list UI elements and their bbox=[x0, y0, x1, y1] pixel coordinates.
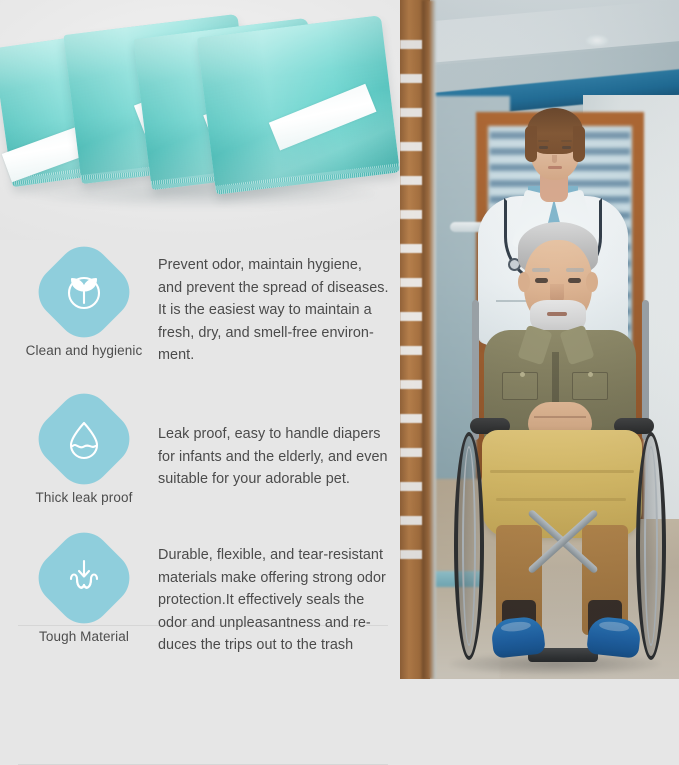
man-mouth bbox=[547, 312, 567, 316]
man-eye bbox=[535, 278, 548, 283]
blanket-fold bbox=[496, 498, 626, 501]
wheelchair-hand-rim bbox=[644, 446, 658, 646]
lap-blanket bbox=[482, 430, 642, 538]
down-arrow-elastic-wave-icon bbox=[27, 521, 140, 634]
man-eyebrow bbox=[566, 268, 584, 272]
feature-text-column: Leak proof, easy to handle diapers for i… bbox=[154, 385, 390, 491]
wheelchair-shadow bbox=[450, 653, 660, 675]
nurse-eye bbox=[539, 146, 548, 149]
feature-description: Durable, flexible, and tear-resistant ma… bbox=[158, 544, 390, 657]
man-eyebrow bbox=[532, 268, 550, 272]
man-ear bbox=[518, 272, 530, 292]
nurse-eyebrow bbox=[538, 140, 549, 142]
wheelchair-hand-rim bbox=[462, 446, 476, 646]
man-eye bbox=[568, 278, 581, 283]
leaf-sprout-circle-icon bbox=[27, 235, 140, 348]
man-shirt-button bbox=[520, 372, 525, 377]
feature-text-column: Durable, flexible, and tear-resistant ma… bbox=[154, 524, 390, 657]
wooden-door-frame-inner bbox=[422, 0, 436, 679]
water-droplet-icon bbox=[27, 382, 140, 495]
feature-item-clean-and-hygienic: Clean and hygienic Prevent odor, maintai… bbox=[0, 240, 400, 385]
nurse-eye bbox=[562, 146, 571, 149]
product-infographic: Clean and hygienic Prevent odor, maintai… bbox=[0, 0, 679, 679]
feature-item-tough-material: Tough Material Durable, flexible, and te… bbox=[0, 524, 400, 674]
feature-icon-column: Clean and hygienic bbox=[14, 240, 154, 358]
feature-list: Clean and hygienic Prevent odor, maintai… bbox=[0, 240, 400, 674]
feature-icon-column: Tough Material bbox=[14, 524, 154, 644]
left-info-panel: Clean and hygienic Prevent odor, maintai… bbox=[0, 0, 400, 679]
nurse-hair bbox=[525, 126, 537, 162]
feature-item-thick-leak-proof: Thick leak proof Leak proof, easy to han… bbox=[0, 385, 400, 524]
nurse-nose bbox=[552, 155, 557, 163]
nurse-hair bbox=[573, 126, 585, 162]
feature-caption: Clean and hygienic bbox=[26, 343, 143, 358]
product-bag bbox=[197, 15, 400, 194]
nurse-mouth bbox=[548, 166, 562, 169]
feature-description: Leak proof, easy to handle diapers for i… bbox=[158, 423, 390, 491]
nurse-eyebrow bbox=[561, 140, 572, 142]
feature-caption: Thick leak proof bbox=[36, 490, 133, 505]
man-ear bbox=[586, 272, 598, 292]
blanket-fold bbox=[490, 470, 634, 473]
man-shirt-button bbox=[588, 372, 593, 377]
lifestyle-photo bbox=[400, 0, 679, 679]
feature-text-column: Prevent odor, maintain hygiene, and prev… bbox=[154, 240, 390, 367]
door-slats bbox=[400, 40, 422, 560]
feature-caption: Tough Material bbox=[39, 629, 129, 644]
feature-description: Prevent odor, maintain hygiene, and prev… bbox=[158, 254, 390, 367]
ceiling-light-icon bbox=[586, 35, 608, 46]
feature-icon-column: Thick leak proof bbox=[14, 385, 154, 505]
product-hero-image bbox=[0, 0, 400, 240]
